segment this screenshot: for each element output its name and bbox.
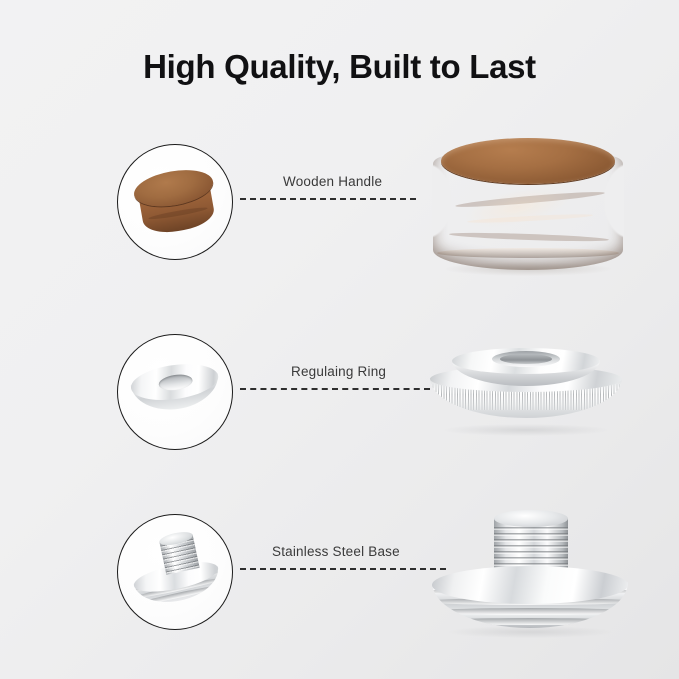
callout-circle-wooden-handle [117, 144, 233, 260]
part-label-stainless-steel-base: Stainless Steel Base [272, 544, 400, 559]
regulating-ring-large [430, 348, 622, 438]
stainless-base-large [432, 508, 628, 640]
handle-domed-top [441, 138, 615, 184]
stainless-base-thumbnail [126, 531, 224, 613]
callout-circle-stainless-steel-base [117, 514, 233, 630]
part-label-wooden-handle: Wooden Handle [283, 174, 382, 189]
connector-line-wooden-handle [240, 198, 416, 200]
regulating-ring-thumbnail [129, 359, 224, 425]
feature-row-wooden-handle: Wooden Handle [0, 130, 679, 310]
ring-contact-shadow [444, 424, 608, 436]
handle-contact-shadow [445, 262, 611, 276]
product-feature-infographic: High Quality, Built to Last Wooden Handl… [0, 0, 679, 679]
feature-row-regulating-ring: Regulaing Ring [0, 320, 679, 500]
base-groove-3 [432, 608, 628, 615]
base-post-top-face [494, 510, 568, 527]
base-contact-shadow [448, 626, 612, 638]
connector-line-stainless-steel-base [240, 568, 446, 570]
ring-bore-inner [500, 354, 552, 364]
wooden-handle-thumbnail [131, 165, 221, 240]
page-title: High Quality, Built to Last [0, 48, 679, 86]
part-label-regulating-ring: Regulaing Ring [291, 364, 386, 379]
callout-circle-regulating-ring [117, 334, 233, 450]
wooden-handle-large [433, 138, 623, 270]
feature-row-stainless-steel-base: Stainless Steel Base [0, 500, 679, 679]
base-groove-4 [432, 618, 628, 625]
connector-line-regulating-ring [240, 388, 430, 390]
base-disc-top-face [432, 566, 628, 604]
handle-base-rim [437, 248, 619, 258]
